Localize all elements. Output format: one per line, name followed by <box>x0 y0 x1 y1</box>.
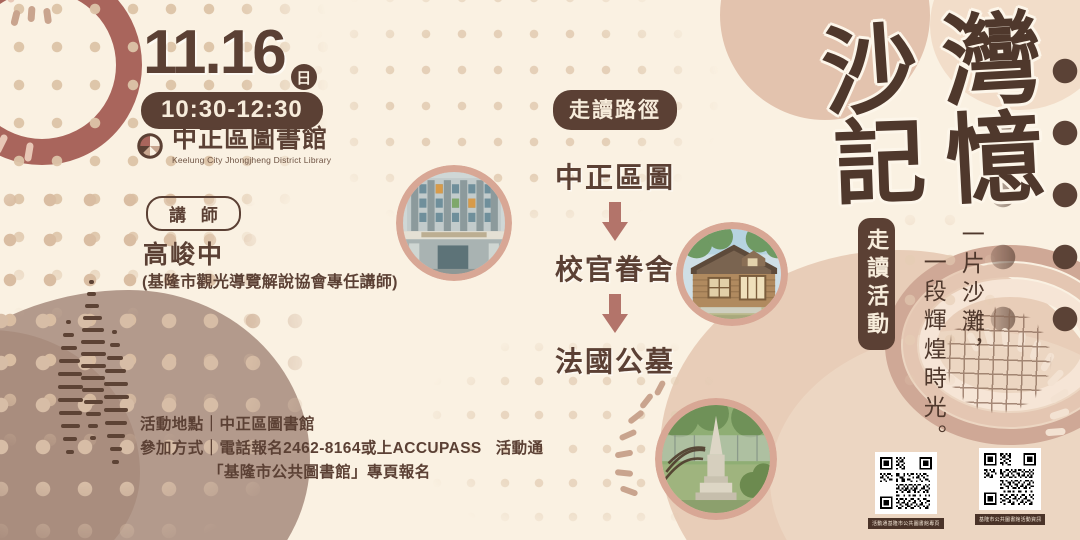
title-char-1: 沙 <box>819 21 921 123</box>
dash-arc-grid <box>930 330 1060 460</box>
venue-separator: ｜ <box>204 416 220 433</box>
library-building-photo <box>396 165 512 281</box>
library-name-en: Keelung City Jhongjheng District Library <box>172 155 331 165</box>
weekday-badge: 日 <box>291 64 317 90</box>
down-arrow-icon <box>602 202 628 242</box>
dashed-ring-top-left <box>0 0 142 165</box>
library-qr[interactable]: 基隆市公共圖書館活動資訊 <box>975 448 1045 525</box>
accupass-qr-caption: 活動通基隆市公共圖書館專頁 <box>868 518 944 529</box>
event-time: 10:30-12:30 <box>141 92 323 129</box>
dash-marks-corner <box>6 6 76 46</box>
wheat-stalk-left <box>75 280 115 480</box>
wheat-stalk-left-2 <box>52 320 92 520</box>
route-section: 走讀路徑 中正區圖 校官眷舍 法國公墓 <box>520 90 710 380</box>
activity-type-badge: 走讀活動 <box>858 218 895 350</box>
signup-label: 參加方式 <box>140 440 204 457</box>
poster-title: 沙 灣 記 憶 <box>814 14 1064 214</box>
route-stop-1: 中正區圖 <box>520 156 710 196</box>
title-char-2: 灣 <box>939 9 1044 114</box>
signup-separator: ｜ <box>204 440 220 457</box>
title-char-4: 憶 <box>944 110 1047 213</box>
venue-row: 活動地點｜中正區圖書館 <box>140 413 543 437</box>
event-date-row: 11.16 日 <box>143 24 317 90</box>
tagline-line-2: 一段輝煌時光。 <box>920 250 945 453</box>
speaker-name: 高峻中 <box>143 235 224 271</box>
event-date: 11.16 <box>143 24 285 83</box>
accupass-qr-image[interactable] <box>875 452 937 514</box>
route-stop-3: 法國公墓 <box>520 340 710 380</box>
down-arrow-icon-2 <box>602 294 628 334</box>
library-qr-image[interactable] <box>979 448 1041 510</box>
signup-row: 參加方式｜電話報名2462-8164或上ACCUPASS活動通 <box>140 437 543 461</box>
crosshatch-circle-texture <box>938 305 1058 415</box>
signup-value: 電話報名2462-8164或上ACCUPASS <box>220 440 482 457</box>
signup-row-2: 「基隆市公共圖書館」專頁報名 <box>140 461 543 485</box>
venue-value: 中正區圖書館 <box>220 416 315 433</box>
wooden-house-photo <box>676 222 788 326</box>
accupass-qr[interactable]: 活動通基隆市公共圖書館專頁 <box>868 452 944 529</box>
library-name-cn: 中正區圖書館 <box>172 127 331 152</box>
footer-information: 活動地點｜中正區圖書館 參加方式｜電話報名2462-8164或上ACCUPASS… <box>140 413 543 485</box>
monument-photo <box>655 398 777 520</box>
speaker-organization: (基隆市觀光導覽解說協會專任講師) <box>142 268 398 292</box>
title-char-3: 記 <box>832 116 927 211</box>
ring-dash-marks <box>0 0 142 165</box>
library-logo-icon <box>135 131 165 161</box>
library-qr-caption: 基隆市公共圖書館活動資訊 <box>975 514 1045 525</box>
signup-extra: 活動通 <box>496 440 544 457</box>
tagline-line-1: 一片沙灘， <box>958 222 983 367</box>
wheat-stalk-left-3 <box>98 330 138 530</box>
event-poster: 11.16 日 10:30-12:30 中正區圖書館 Keelung City … <box>0 0 1080 540</box>
route-heading: 走讀路徑 <box>553 90 677 130</box>
library-logo: 中正區圖書館 Keelung City Jhongjheng District … <box>135 127 331 165</box>
mauve-blob-bottom-left-inner <box>0 330 140 540</box>
venue-label: 活動地點 <box>140 416 204 433</box>
speaker-label: 講 師 <box>146 196 241 231</box>
